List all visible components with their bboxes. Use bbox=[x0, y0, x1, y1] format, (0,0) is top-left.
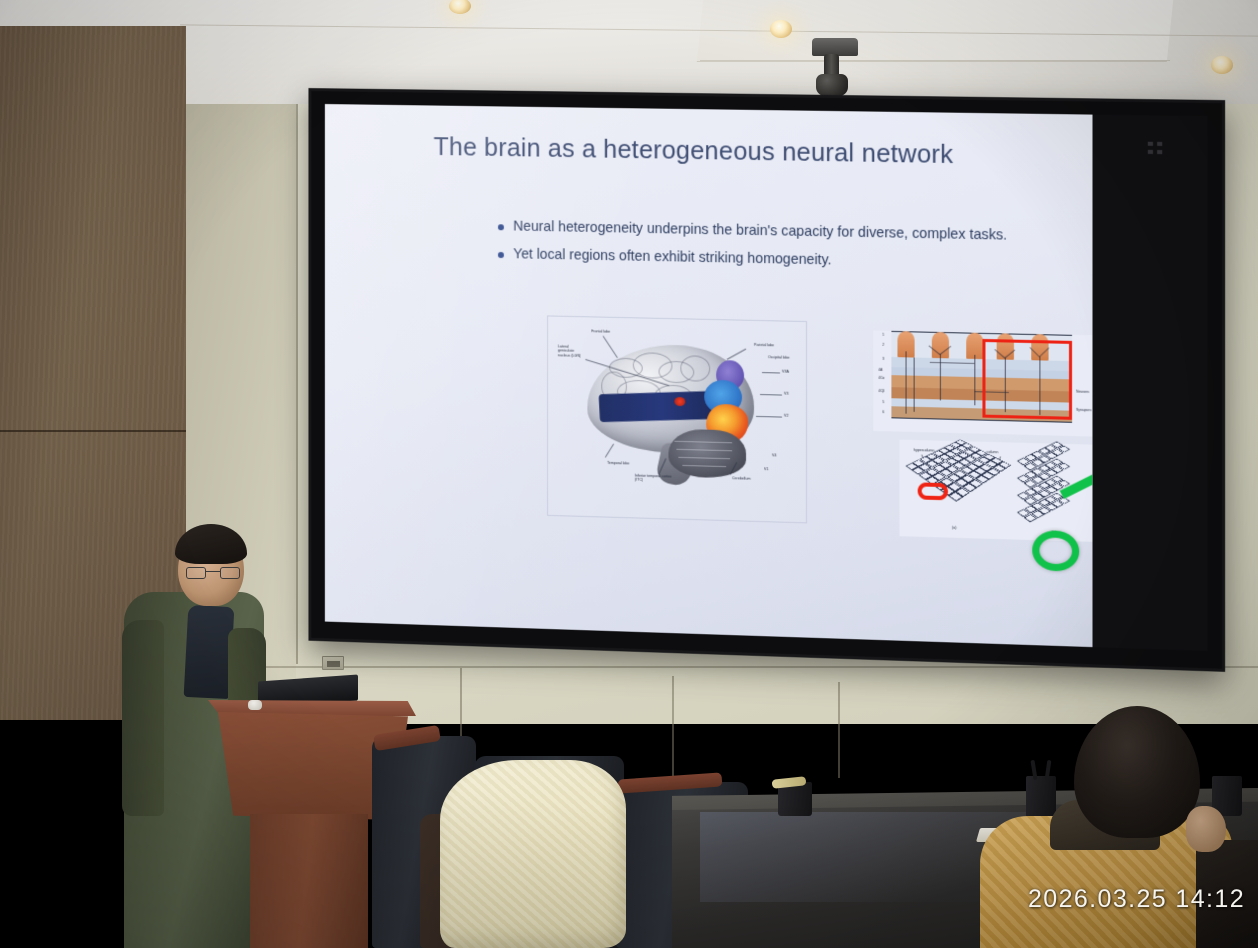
bullet-text: Neural heterogeneity underpins the brain… bbox=[513, 218, 1007, 246]
bullet-marker-icon bbox=[498, 224, 503, 230]
figure-label-itc: Inferior temporal cortex (ITC) bbox=[635, 474, 675, 484]
presenter-glasses-icon bbox=[186, 567, 240, 579]
leader-line bbox=[605, 444, 614, 458]
layer-tick: 6 bbox=[882, 410, 884, 414]
figure-label-v1: V1 bbox=[764, 467, 768, 472]
list-item: Neural heterogeneity underpins the brain… bbox=[498, 217, 1078, 247]
downlight-icon bbox=[1211, 56, 1233, 74]
cerebellum-illustration bbox=[668, 429, 746, 479]
figure-cortical-layers: 1 2 3 4A 4Cα 4Cβ 5 6 Neurons Synapses bbox=[873, 330, 1092, 436]
layer-tick: 3 bbox=[882, 357, 884, 361]
gyrus-line bbox=[680, 355, 710, 382]
bullet-text: Yet local regions often exhibit striking… bbox=[513, 246, 831, 271]
leader-line bbox=[727, 349, 746, 360]
figure-label-lgn: Lateral geniculate nucleus (LGN) bbox=[558, 344, 586, 358]
layer-tick: 4Cβ bbox=[878, 389, 884, 393]
figure-label-temporal-lobe: Temporal lobe bbox=[607, 461, 629, 466]
leader-line bbox=[756, 416, 782, 417]
projector-head-icon bbox=[816, 74, 848, 96]
layer-tick: 4A bbox=[878, 368, 882, 372]
layer-tick: 5 bbox=[882, 400, 884, 404]
leader-line bbox=[762, 372, 780, 373]
figure-label-v3a: V3A bbox=[782, 370, 789, 375]
hypercolumn-highlight-box bbox=[918, 482, 948, 500]
figure-side-label: Neurons bbox=[1076, 390, 1089, 394]
ceiling-seam bbox=[700, 60, 1170, 61]
lectern-microphone-icon[interactable] bbox=[248, 700, 262, 710]
wall-panel-seam bbox=[838, 682, 840, 778]
bullet-marker-icon bbox=[498, 252, 503, 258]
list-item: Yet local regions often exhibit striking… bbox=[498, 245, 1078, 275]
presentation-display[interactable]: The brain as a heterogeneous neural netw… bbox=[308, 88, 1225, 672]
photo-scene: The brain as a heterogeneous neural netw… bbox=[0, 0, 1258, 948]
wall-wood-seam bbox=[0, 430, 186, 432]
figure-label-v4: V4 bbox=[772, 453, 776, 458]
optic-pathway-illustration bbox=[599, 391, 721, 422]
figure-label-parietal-lobe: Parietal lobe bbox=[754, 343, 774, 348]
figure-label-v2: V2 bbox=[784, 414, 788, 419]
lgn-marker-icon bbox=[674, 397, 685, 406]
downlight-icon bbox=[770, 20, 792, 38]
figure-label-v3: V3 bbox=[784, 392, 788, 397]
camera-timestamp: 2026.03.25 14:12 bbox=[1028, 885, 1245, 914]
attendee-hand bbox=[1186, 806, 1226, 852]
layer-tick: 1 bbox=[882, 333, 884, 337]
lectern-column bbox=[250, 814, 368, 948]
draped-throw[interactable] bbox=[440, 760, 626, 948]
wall-panel-seam bbox=[672, 676, 674, 788]
presenter-shirt bbox=[184, 605, 235, 699]
layer-tick: 2 bbox=[882, 343, 884, 347]
figure-side-label: Synapses bbox=[1076, 408, 1091, 412]
slide-title: The brain as a heterogeneous neural netw… bbox=[434, 133, 954, 170]
leader-line bbox=[760, 394, 782, 395]
layer-tick: 4Cα bbox=[878, 376, 884, 380]
presenter-left-arm bbox=[122, 620, 164, 816]
figure-label-frontal-lobe: Frontal lobe bbox=[591, 329, 610, 334]
figure-label-cerebellum: Cerebellum bbox=[732, 476, 750, 481]
slide-content: The brain as a heterogeneous neural netw… bbox=[325, 104, 1093, 647]
attendee-head bbox=[1074, 706, 1200, 838]
display-screen: The brain as a heterogeneous neural netw… bbox=[325, 104, 1208, 651]
pen-holder[interactable] bbox=[1026, 776, 1056, 818]
annotation-circle-v1 bbox=[1032, 530, 1079, 572]
figure-sublabel-a: (a) bbox=[952, 526, 956, 531]
figure-label-occipital-lobe: Occipital lobe bbox=[768, 355, 796, 360]
screen-corner-marker-icon bbox=[1148, 142, 1164, 156]
wall-panel-seam bbox=[296, 104, 298, 664]
leader-line bbox=[603, 336, 618, 358]
screen-letterbox-band bbox=[1086, 115, 1207, 651]
wall-outlet[interactable] bbox=[322, 656, 344, 670]
slide-bullet-list: Neural heterogeneity underpins the brain… bbox=[498, 217, 1078, 284]
cortical-layers-highlight-box bbox=[982, 339, 1072, 420]
figure-brain-anatomy: Frontal lobe Lateral geniculate nucleus … bbox=[547, 315, 807, 523]
